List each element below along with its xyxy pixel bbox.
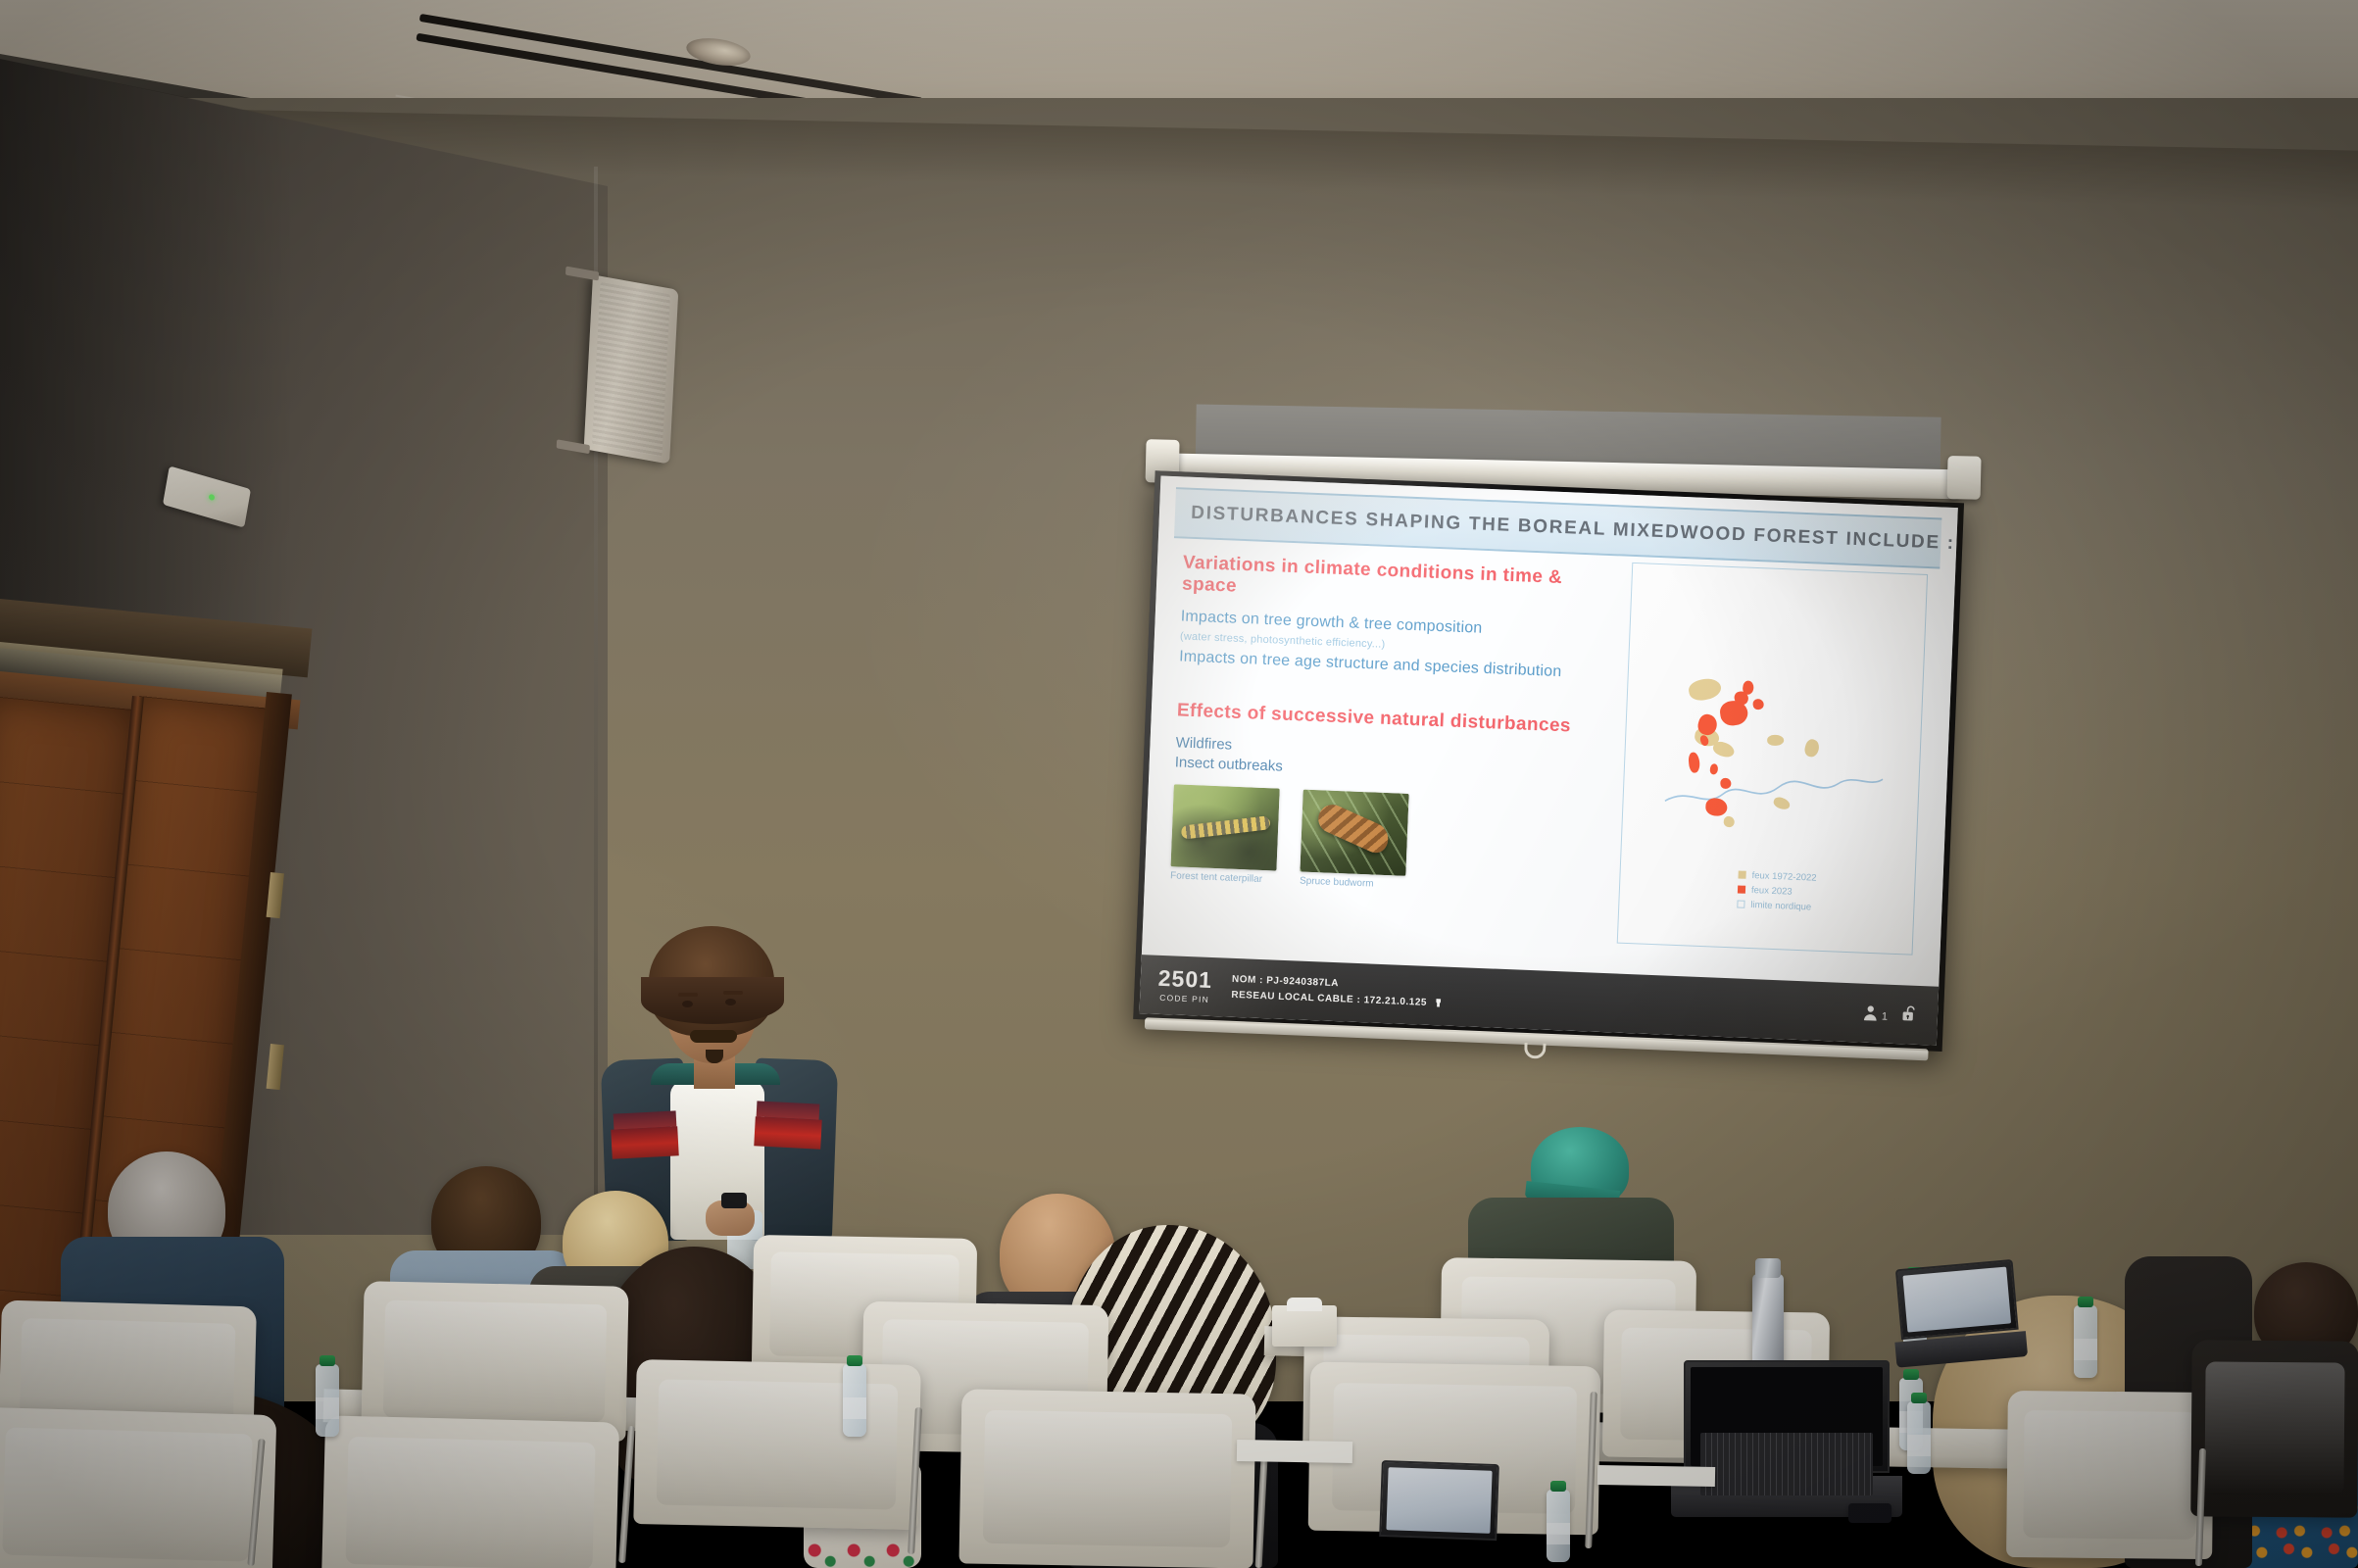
- bottle-cap-icon: [847, 1355, 862, 1366]
- osd-pin-block: 2501 CODE PIN: [1157, 967, 1213, 1004]
- osd-status-icons: 1: [1861, 1004, 1921, 1024]
- presenter-eye: [682, 1001, 693, 1007]
- slide-title: DISTURBANCES SHAPING THE BOREAL MIXEDWOO…: [1175, 502, 1955, 555]
- slide-section-heading-1: Variations in climate conditions in time…: [1182, 552, 1622, 612]
- door-hinge-icon: [267, 872, 284, 918]
- presenter-jacket-stripe: [754, 1116, 821, 1150]
- screen-border: DISTURBANCES SHAPING THE BOREAL MIXEDWOO…: [1133, 470, 1964, 1052]
- forest-tent-caterpillar-photo: [1171, 784, 1280, 870]
- wall-speaker-icon: [584, 274, 679, 464]
- person-icon: [1861, 1004, 1881, 1023]
- osd-network-block: NOM : PJ-9240387LA RESEAU LOCAL CABLE : …: [1231, 972, 1445, 1012]
- chair[interactable]: [0, 1407, 276, 1568]
- photo-caption-budworm: Spruce budworm: [1300, 875, 1405, 890]
- presentation-clicker[interactable]: [721, 1193, 747, 1208]
- osd-user-count-value: 1: [1882, 1011, 1889, 1023]
- water-bottle[interactable]: [1907, 1401, 1931, 1474]
- chair[interactable]: [2006, 1391, 2214, 1559]
- legend-label-historic: feux 1972-2022: [1751, 870, 1816, 884]
- legend-swatch-nordic: [1737, 900, 1744, 907]
- laptop-front-edge[interactable]: [1378, 1460, 1499, 1568]
- laptop-lid: [1379, 1460, 1499, 1541]
- bottle-cap-icon: [319, 1355, 335, 1366]
- chair[interactable]: [321, 1415, 619, 1568]
- presenter-jacket-stripe: [611, 1126, 678, 1159]
- chair[interactable]: [633, 1359, 920, 1530]
- projected-slide-surface: DISTURBANCES SHAPING THE BOREAL MIXEDWOO…: [1139, 476, 1957, 1046]
- fire-patch-2023: [1720, 778, 1731, 789]
- water-bottle[interactable]: [2074, 1305, 2097, 1378]
- projection-screen-assembly: DISTURBANCES SHAPING THE BOREAL MIXEDWOO…: [1114, 400, 2002, 1081]
- legend-swatch-2023: [1738, 885, 1745, 893]
- door-hinge-icon: [267, 1044, 284, 1090]
- sensor-led-icon: [208, 494, 215, 502]
- osd-pin-code: 2501: [1157, 967, 1212, 992]
- screen-pull-hook[interactable]: [1524, 1043, 1547, 1059]
- osd-user-count: 1: [1861, 1004, 1889, 1023]
- legend-label-2023: feux 2023: [1751, 885, 1793, 898]
- slide-body-left: Variations in climate conditions in time…: [1170, 552, 1622, 899]
- fire-patch-historic: [1687, 676, 1723, 704]
- presenter-hair: [649, 926, 774, 1036]
- map-legend: feux 1972-2022 feux 2023 limite nordique: [1737, 869, 1817, 916]
- laptop-open-lit[interactable]: [1895, 1259, 2021, 1367]
- roller-end-cap-right: [1947, 456, 1982, 500]
- water-bottle[interactable]: [1547, 1490, 1570, 1562]
- bottle-cap-icon: [1550, 1481, 1566, 1492]
- smartphone[interactable]: [1848, 1503, 1891, 1523]
- photo-caption-caterpillar: Forest tent caterpillar: [1170, 870, 1276, 885]
- photo-item-budworm: Spruce budworm: [1300, 789, 1409, 890]
- slide-photo-row: Forest tent caterpillar Spruce budworm: [1170, 784, 1612, 899]
- laptop-screen: [1386, 1467, 1492, 1533]
- chair[interactable]: [958, 1389, 1255, 1568]
- laptop-thinkpad[interactable]: [1684, 1360, 1890, 1517]
- legend-swatch-historic: [1738, 870, 1745, 878]
- legend-row: feux 2023: [1738, 884, 1816, 898]
- quebec-wildfire-map: feux 1972-2022 feux 2023 limite nordique: [1617, 563, 1928, 956]
- laptop-lid: [1895, 1259, 2019, 1340]
- osd-pin-label: CODE PIN: [1157, 993, 1212, 1004]
- lecture-room-photo: DISTURBANCES SHAPING THE BOREAL MIXEDWOO…: [0, 0, 2358, 1568]
- chair[interactable]: [2190, 1340, 2358, 1517]
- fire-patch-historic: [1767, 734, 1784, 745]
- presenter-moustache: [690, 1030, 737, 1043]
- thermos-lid: [1755, 1258, 1781, 1278]
- water-bottle[interactable]: [843, 1364, 866, 1437]
- ethernet-plug-icon: [1433, 998, 1444, 1008]
- laptop-keyboard[interactable]: [1700, 1433, 1873, 1495]
- fire-patch-2023: [1752, 699, 1764, 710]
- presenter-goatee: [706, 1050, 723, 1063]
- water-bottle[interactable]: [316, 1364, 339, 1437]
- legend-label-nordic: limite nordique: [1750, 900, 1811, 912]
- fire-patch-2023: [1742, 680, 1754, 696]
- legend-row: feux 1972-2022: [1738, 869, 1816, 883]
- laptop-screen: [1902, 1267, 2011, 1333]
- spruce-budworm-photo: [1300, 789, 1408, 875]
- presentation-slide: DISTURBANCES SHAPING THE BOREAL MIXEDWOO…: [1139, 476, 1957, 1046]
- bottle-cap-icon: [2078, 1297, 2093, 1307]
- presenter: [588, 916, 862, 1240]
- legend-row: limite nordique: [1737, 899, 1815, 912]
- photo-item-caterpillar: Forest tent caterpillar: [1170, 784, 1280, 885]
- presenter-eye: [725, 999, 736, 1005]
- tissue-box[interactable]: [1272, 1305, 1337, 1347]
- bottle-cap-icon: [1911, 1393, 1927, 1403]
- paper-sheet[interactable]: [1237, 1440, 1352, 1463]
- paper-sheet[interactable]: [1597, 1465, 1715, 1487]
- unlocked-padlock-icon: [1901, 1005, 1921, 1025]
- bottle-cap-icon: [1903, 1369, 1919, 1380]
